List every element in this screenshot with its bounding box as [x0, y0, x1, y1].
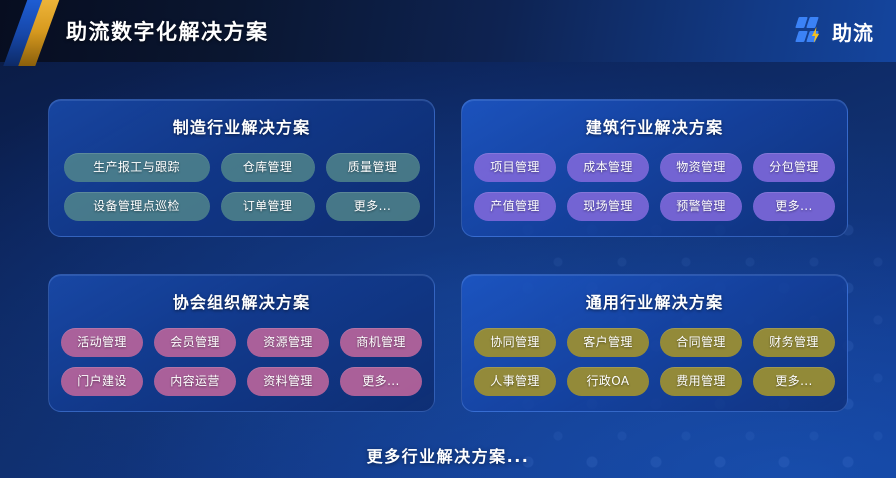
solution-pill[interactable]: 费用管理	[660, 367, 742, 396]
solution-pill[interactable]: 客户管理	[567, 328, 649, 357]
solution-card-grid: 制造行业解决方案 生产报工与跟踪 仓库管理 质量管理 设备管理点巡检 订单管理 …	[48, 99, 848, 412]
solution-pill[interactable]: 内容运营	[154, 367, 236, 396]
solution-pill[interactable]: 成本管理	[567, 153, 649, 182]
solution-pill[interactable]: 质量管理	[326, 153, 420, 182]
pill-row: 协同管理 客户管理 合同管理 财务管理	[476, 328, 833, 357]
solution-pill[interactable]: 资源管理	[247, 328, 329, 357]
solution-pill[interactable]: 仓库管理	[221, 153, 315, 182]
solution-pill-more[interactable]: 更多...	[326, 192, 420, 221]
pill-row: 人事管理 行政OA 费用管理 更多...	[476, 367, 833, 396]
solution-pill[interactable]: 门户建设	[61, 367, 143, 396]
solution-pill[interactable]: 分包管理	[753, 153, 835, 182]
card-title: 制造行业解决方案	[63, 114, 420, 138]
solution-card-construction[interactable]: 建筑行业解决方案 项目管理 成本管理 物资管理 分包管理 产值管理 现场管理 预…	[461, 99, 848, 237]
slanted-bars-icon	[0, 0, 56, 62]
solution-pill[interactable]: 合同管理	[660, 328, 742, 357]
zhuliu-parallelogram-bolt-icon	[795, 16, 825, 46]
footer-more-solutions[interactable]: 更多行业解决方案...	[0, 443, 896, 467]
pill-row: 门户建设 内容运营 资料管理 更多...	[63, 367, 420, 396]
pill-row: 生产报工与跟踪 仓库管理 质量管理	[63, 153, 420, 182]
solution-pill-more[interactable]: 更多...	[340, 367, 422, 396]
solution-card-association[interactable]: 协会组织解决方案 活动管理 会员管理 资源管理 商机管理 门户建设 内容运营 资…	[48, 274, 435, 412]
pill-row: 项目管理 成本管理 物资管理 分包管理	[476, 153, 833, 182]
solution-pill[interactable]: 订单管理	[221, 192, 315, 221]
solution-pill[interactable]: 生产报工与跟踪	[64, 153, 210, 182]
solution-pill[interactable]: 设备管理点巡检	[64, 192, 210, 221]
page-header: 助流数字化解决方案 助流	[0, 0, 896, 62]
brand-name-label: 助流	[832, 17, 874, 46]
solution-pill[interactable]: 产值管理	[474, 192, 556, 221]
solution-pill[interactable]: 资料管理	[247, 367, 329, 396]
solution-pill[interactable]: 财务管理	[753, 328, 835, 357]
solution-pill[interactable]: 商机管理	[340, 328, 422, 357]
solution-pill[interactable]: 项目管理	[474, 153, 556, 182]
solution-pill[interactable]: 协同管理	[474, 328, 556, 357]
solution-pill-more[interactable]: 更多...	[753, 367, 835, 396]
solution-pill[interactable]: 会员管理	[154, 328, 236, 357]
solution-pill[interactable]: 现场管理	[567, 192, 649, 221]
solution-pill[interactable]: 预警管理	[660, 192, 742, 221]
pill-row: 设备管理点巡检 订单管理 更多...	[63, 192, 420, 221]
solution-pill[interactable]: 行政OA	[567, 367, 649, 396]
card-title: 通用行业解决方案	[476, 289, 833, 313]
solution-pill[interactable]: 人事管理	[474, 367, 556, 396]
page-title: 助流数字化解决方案	[66, 16, 269, 46]
solution-pill[interactable]: 物资管理	[660, 153, 742, 182]
solution-card-general[interactable]: 通用行业解决方案 协同管理 客户管理 合同管理 财务管理 人事管理 行政OA 费…	[461, 274, 848, 412]
pill-row: 活动管理 会员管理 资源管理 商机管理	[63, 328, 420, 357]
logo-block-2	[806, 17, 819, 28]
card-title: 建筑行业解决方案	[476, 114, 833, 138]
brand-logo[interactable]: 助流	[795, 16, 874, 46]
card-title: 协会组织解决方案	[63, 289, 420, 313]
solution-pill-more[interactable]: 更多...	[753, 192, 835, 221]
solution-card-manufacturing[interactable]: 制造行业解决方案 生产报工与跟踪 仓库管理 质量管理 设备管理点巡检 订单管理 …	[48, 99, 435, 237]
pill-row: 产值管理 现场管理 预警管理 更多...	[476, 192, 833, 221]
solution-pill[interactable]: 活动管理	[61, 328, 143, 357]
solutions-overview-page: 助流数字化解决方案 助流 制造行业解决方案 生产报工与跟踪 仓库管理 质量管理 …	[0, 0, 896, 478]
